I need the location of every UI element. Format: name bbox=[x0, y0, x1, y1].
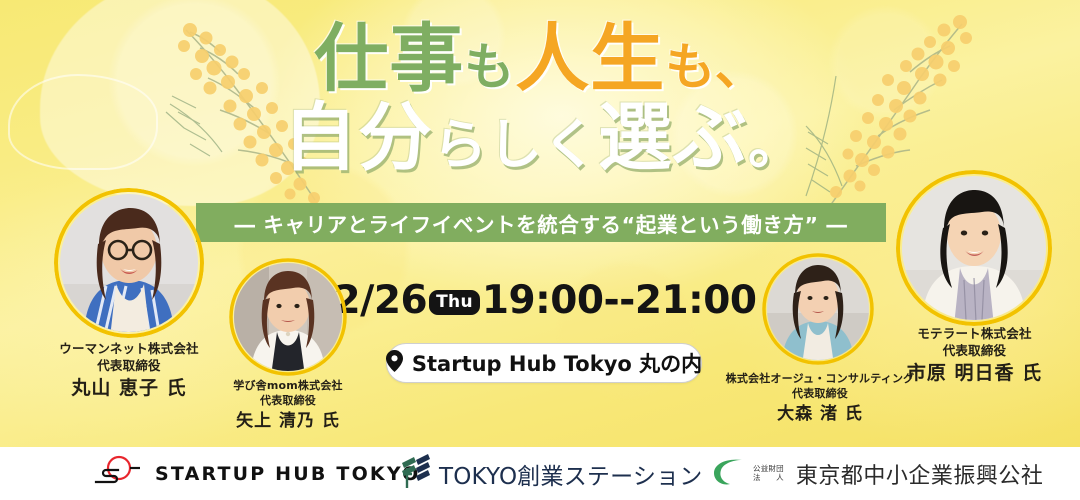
event-banner: 仕事も人生も、 自分らしく選ぶ。 ― キャリアとライフイベントを統合する“起業と… bbox=[0, 0, 1080, 500]
logo-tokyo-sogyo-station[interactable]: TOKYO創業ステーション bbox=[400, 454, 702, 493]
speaker-name: 大森 渚 氏 bbox=[720, 403, 920, 426]
event-datetime: 2/26 Thu 19:00--21:00 bbox=[330, 277, 760, 323]
venue-button[interactable]: Startup Hub Tokyo 丸の内 bbox=[386, 343, 702, 383]
tcs-mark-icon bbox=[400, 454, 430, 493]
subtitle-text: ― キャリアとライフイベントを統合する“起業という働き方” ― bbox=[235, 208, 848, 238]
speaker-role: 代表取締役 bbox=[29, 358, 229, 375]
speaker-role: 代表取締役 bbox=[196, 394, 380, 409]
event-time: 19:00--21:00 bbox=[482, 278, 757, 323]
headline: 仕事も人生も、 自分らしく選ぶ。 bbox=[0, 22, 1080, 177]
logo-tokyo-sogyo-station-text: TOKYO創業ステーション bbox=[439, 457, 702, 491]
speaker-org: ウーマンネット株式会社 bbox=[29, 341, 229, 358]
headline-word-erabu: 選ぶ bbox=[598, 95, 748, 181]
speaker-org: 学び舎mom株式会社 bbox=[196, 379, 380, 394]
subtitle-ribbon: ― キャリアとライフイベントを統合する“起業という働き方” ― bbox=[196, 203, 886, 242]
speaker-name: 市原 明日香 氏 bbox=[872, 361, 1077, 387]
headline-punctuation: 。 bbox=[748, 112, 803, 176]
green-swoosh-mark-icon bbox=[712, 456, 744, 491]
speaker-role: 代表取締役 bbox=[872, 343, 1077, 360]
speaker-caption-yagami: 学び舎mom株式会社 代表取締役 矢上 清乃 氏 bbox=[196, 379, 380, 433]
logo-koeki-zaidan-prefix: 公益財団 法 人 bbox=[753, 465, 784, 481]
speaker-name: 矢上 清乃 氏 bbox=[196, 410, 380, 433]
map-pin-icon bbox=[386, 350, 403, 377]
headline-particle-mo-1: も bbox=[464, 37, 515, 96]
venue-label: Startup Hub Tokyo 丸の内 bbox=[412, 348, 702, 378]
speaker-photo-yagami bbox=[229, 258, 347, 376]
headline-particle-mo-2: も、 bbox=[665, 37, 766, 96]
logo-startup-hub-tokyo-text: STARTUP HUB TOKYO bbox=[155, 463, 420, 485]
logo-startup-hub-tokyo[interactable]: STARTUP HUB TOKYO bbox=[92, 455, 420, 492]
logo-tokyo-sme-support[interactable]: 公益財団 法 人 東京都中小企業振興公社 bbox=[712, 456, 1043, 491]
headline-word-rashiku: らしく bbox=[433, 112, 598, 176]
koeki-line2: 法 人 bbox=[753, 474, 784, 482]
speaker-org: モテラート株式会社 bbox=[872, 326, 1077, 343]
logo-tokyo-sme-support-text: 東京都中小企業振興公社 bbox=[796, 458, 1044, 490]
speaker-caption-ichihara: モテラート株式会社 代表取締役 市原 明日香 氏 bbox=[872, 326, 1077, 386]
footer-logo-bar: STARTUP HUB TOKYO TOKYO創業ステーション bbox=[0, 447, 1080, 500]
event-date: 2/26 bbox=[333, 278, 427, 323]
speaker-photo-omori bbox=[762, 253, 874, 365]
headline-word-jinsei: 人生 bbox=[515, 16, 665, 102]
day-of-week-badge: Thu bbox=[429, 290, 480, 315]
headline-word-jibun: 自分 bbox=[283, 95, 433, 181]
s-circle-mark-icon bbox=[92, 455, 146, 492]
headline-word-shigoto: 仕事 bbox=[314, 16, 464, 102]
speaker-role: 代表取締役 bbox=[720, 387, 920, 402]
speaker-photo-maruyama bbox=[54, 188, 204, 338]
speaker-photo-ichihara bbox=[896, 170, 1052, 326]
